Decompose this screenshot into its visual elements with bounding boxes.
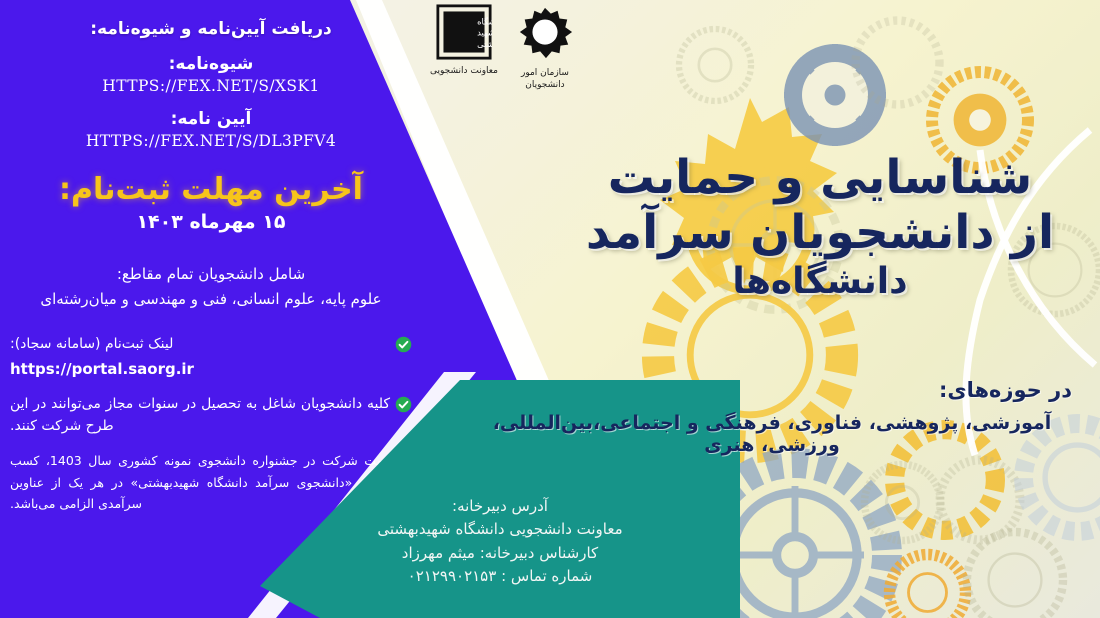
levels-list: علوم پایه، علوم انسانی، فنی و مهندسی و م… [10, 288, 412, 311]
fields-heading: در حوزه‌های: [462, 378, 1082, 402]
bullet-text-eligibility: کلیه دانشجویان شاغل به تحصیل در سنوات مج… [10, 394, 390, 437]
gear-icon [855, 455, 950, 550]
secretariat-address-label: آدرس دبیرخانه: [300, 495, 700, 518]
registration-portal-link[interactable]: https://portal.saorg.ir [10, 358, 390, 381]
method-url-link[interactable]: HTTPS://FEX.NET/S/XSK1 [10, 77, 412, 95]
secretariat-phone-value: ۰۲۱۲۹۹۰۲۱۵۳ [408, 567, 497, 585]
gear-icon [880, 545, 975, 618]
secretariat-expert: کارشناس دبیرخانه: میثم مهرزاد [300, 542, 700, 565]
levels-title: شامل دانشجویان تمام مقاطع: [10, 263, 412, 286]
gear-icon [670, 20, 760, 110]
method-label: شیوه‌نامه: [10, 54, 412, 74]
gear-icon [930, 450, 1030, 550]
bullet-list: لینک ثبت‌نام (سامانه سجاد): https://port… [10, 334, 412, 514]
fields-list: آموزشی، پژوهشی، فناوری، فرهنگی و اجتماعی… [462, 412, 1082, 456]
title-line-1: شناسایی و حمایت [560, 150, 1080, 205]
download-heading: دریافت آیین‌نامه و شیوه‌نامه: [10, 18, 412, 40]
list-item: کلیه دانشجویان شاغل به تحصیل در سنوات مج… [10, 394, 412, 437]
gear-icon [955, 520, 1075, 618]
poster-root: دانشگاه شهید بهشتی معاونت دانشجویی سازما… [0, 0, 1100, 618]
deadline-date: ۱۵ مهرماه ۱۴۰۳ [10, 211, 412, 233]
bullet-label-registration: لینک ثبت‌نام (سامانه سجاد): [10, 336, 173, 352]
list-item: لینک ثبت‌نام (سامانه سجاد): https://port… [10, 334, 412, 381]
secretariat-phone-label: شماره تماس : [501, 567, 592, 585]
page-title: شناسایی و حمایت از دانشجویان سرآمد دانشگ… [560, 150, 1080, 303]
title-line-2: از دانشجویان سرآمد [560, 205, 1080, 260]
title-line-3: دانشگاه‌ها [560, 261, 1080, 303]
bullet-text-registration: لینک ثبت‌نام (سامانه سجاد): https://port… [10, 334, 390, 381]
gear-icon [845, 10, 950, 115]
check-circle-icon [395, 396, 412, 413]
regulation-label: آیین نامه: [10, 109, 412, 129]
secretariat-phone-row: شماره تماس : ۰۲۱۲۹۹۰۲۱۵۳ [300, 565, 700, 588]
check-circle-icon [395, 336, 412, 353]
gear-icon [760, 20, 910, 170]
secretariat-address-value: معاونت دانشجویی دانشگاه شهیدبهشتی [300, 518, 700, 541]
regulation-url-link[interactable]: HTTPS://FEX.NET/S/DL3PFV4 [10, 132, 412, 150]
fields-section: در حوزه‌های: آموزشی، پژوهشی، فناوری، فره… [462, 378, 1082, 456]
deadline-heading: آخرین مهلت ثبت‌نام: [10, 172, 412, 207]
secretariat-content: آدرس دبیرخانه: معاونت دانشجویی دانشگاه ش… [300, 495, 700, 588]
